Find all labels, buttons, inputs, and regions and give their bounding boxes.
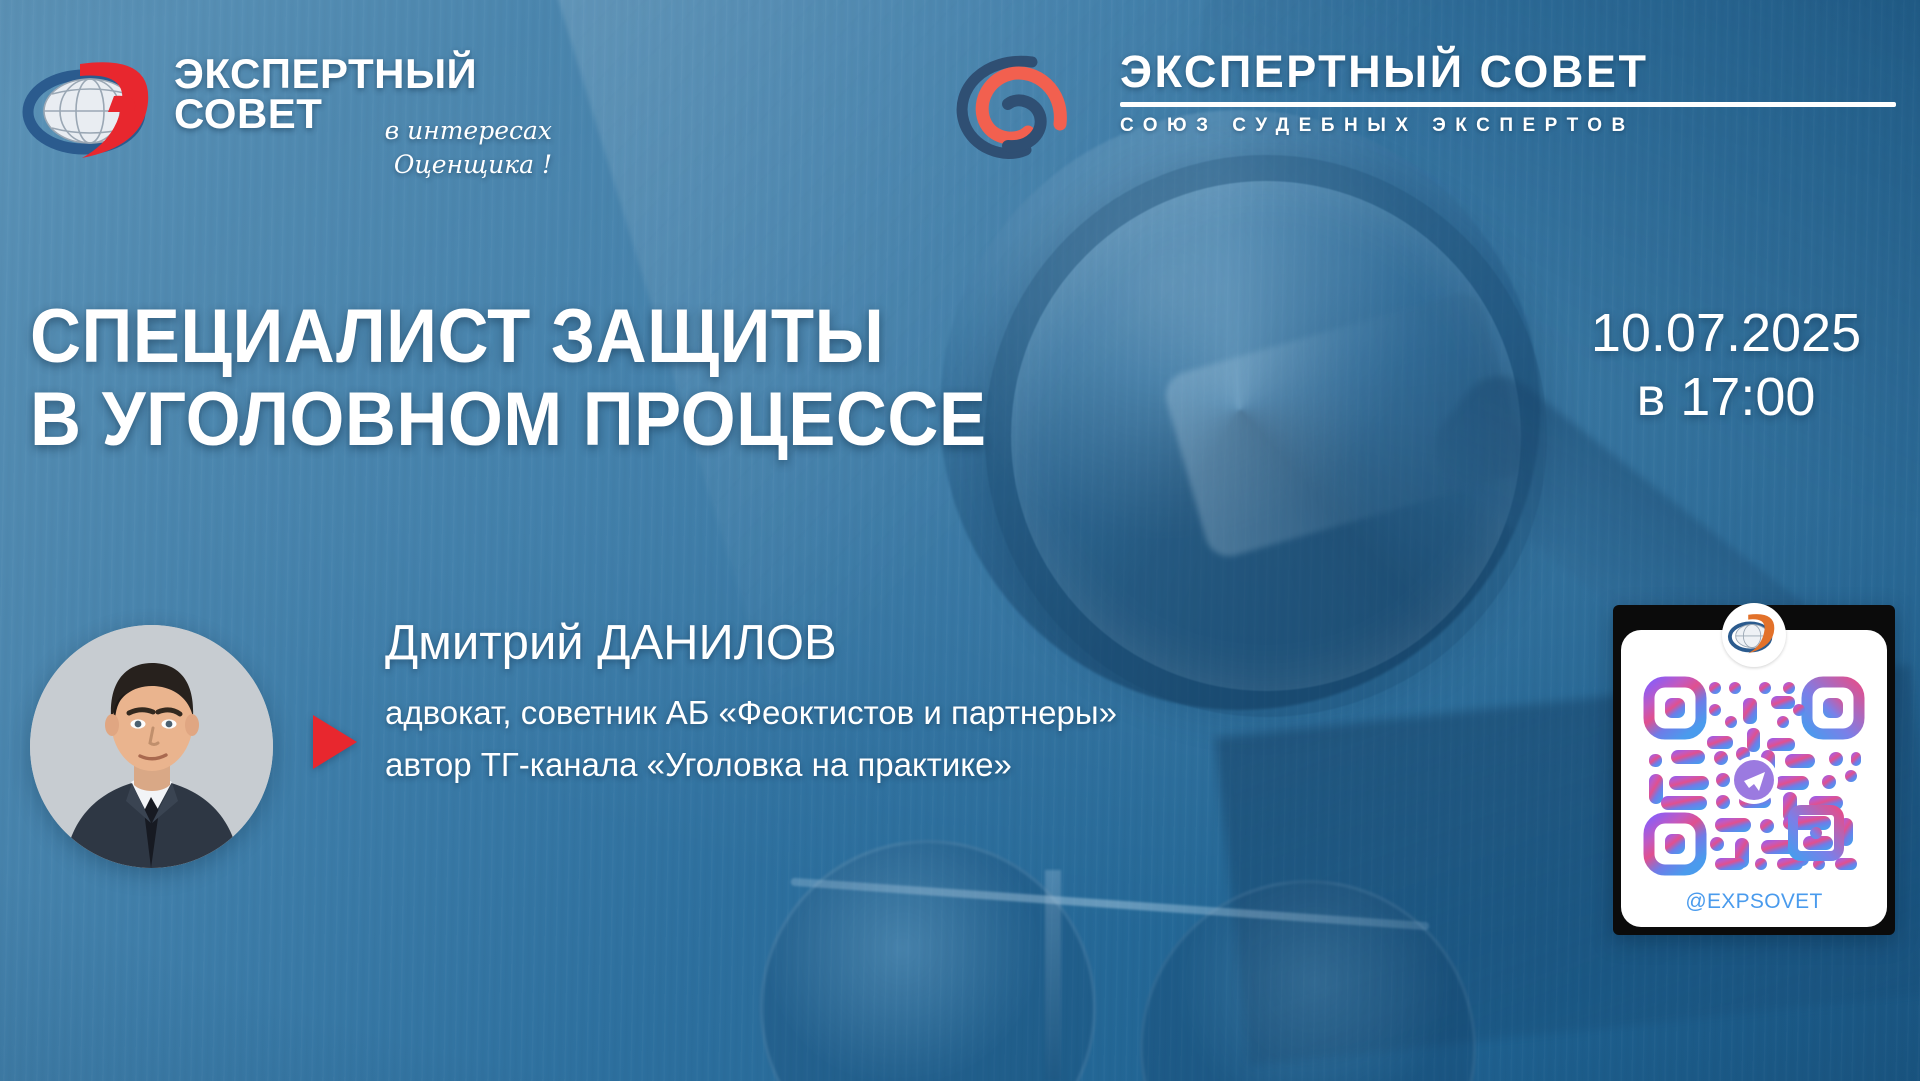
gavel-band-detail <box>1160 288 1530 562</box>
speaker-block: Дмитрий ДАНИЛОВ адвокат, советник АБ «Фе… <box>30 620 1430 920</box>
speaker-role-line-1: адвокат, советник АБ «Феоктистов и партн… <box>385 687 1395 739</box>
speaker-details: Дмитрий ДАНИЛОВ адвокат, советник АБ «Фе… <box>385 617 1395 791</box>
logo-right-divider <box>1120 102 1896 107</box>
tagline-line-2: Оценщика ! <box>352 148 552 182</box>
logo-right-text: ЭКСПЕРТНЫЙ СОВЕТ СОЮЗ СУДЕБНЫХ ЭКСПЕРТОВ <box>1120 48 1896 137</box>
page-title: СПЕЦИАЛИСТ ЗАЩИТЫ В УГОЛОВНОМ ПРОЦЕССЕ <box>30 296 1127 462</box>
tagline-line-1: в интересах <box>385 116 552 145</box>
event-poster: ЭКСПЕРТНЫЙ СОВЕТ в интересах Оценщика ! … <box>0 0 1920 1081</box>
event-time: в 17:00 <box>1556 366 1896 430</box>
logo-right-subtitle: СОЮЗ СУДЕБНЫХ ЭКСПЕРТОВ <box>1120 115 1896 137</box>
qr-card-inner[interactable]: @EXPSOVET <box>1621 630 1887 927</box>
spiral-logo-icon <box>948 50 1088 162</box>
logo-right-title: ЭКСПЕРТНЫЙ СОВЕТ <box>1120 48 1896 95</box>
globe-swoosh-logo-icon <box>1722 603 1786 667</box>
event-date: 10.07.2025 <box>1591 303 1861 363</box>
speaker-portrait <box>30 625 273 868</box>
logo-soyuz-sudebnyh-ekspertov[interactable]: ЭКСПЕРТНЫЙ СОВЕТ СОЮЗ СУДЕБНЫХ ЭКСПЕРТОВ <box>948 46 1898 166</box>
headline-line-2: В УГОЛОВНОМ ПРОЦЕССЕ <box>30 379 1127 462</box>
play-triangle-icon <box>313 715 357 769</box>
speaker-role-line-2: автор ТГ-канала «Уголовка на практике» <box>385 739 1395 791</box>
telegram-handle[interactable]: @EXPSOVET <box>1621 890 1887 914</box>
qr-matrix[interactable] <box>1643 676 1865 876</box>
logo-expertniy-sovet-left[interactable]: ЭКСПЕРТНЫЙ СОВЕТ в интересах Оценщика ! <box>22 36 542 206</box>
event-datetime: 10.07.2025 в 17:00 <box>1556 302 1896 429</box>
headline-line-1: СПЕЦИАЛИСТ ЗАЩИТЫ <box>30 296 1127 379</box>
logo-line-1: ЭКСПЕРТНЫЙ <box>174 54 477 94</box>
globe-swoosh-logo-icon <box>22 50 172 168</box>
logo-tagline: в интересах Оценщика ! <box>352 114 552 182</box>
qr-code-card[interactable]: @EXPSOVET <box>1613 605 1895 935</box>
speaker-name: Дмитрий ДАНИЛОВ <box>385 617 1395 671</box>
